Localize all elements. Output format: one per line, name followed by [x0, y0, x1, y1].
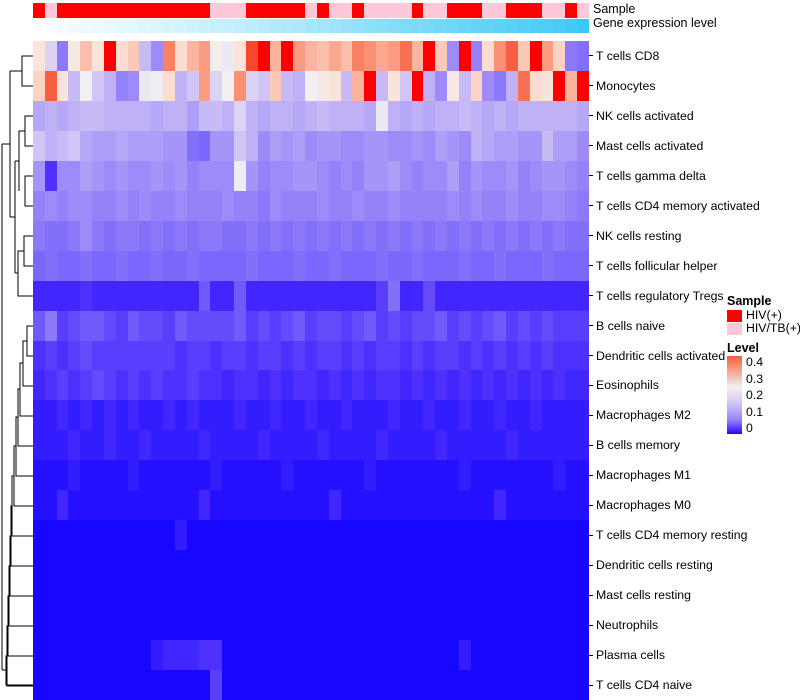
heatmap-cell — [222, 370, 234, 400]
heatmap-cell — [293, 640, 305, 670]
heatmap-cell — [234, 191, 246, 221]
gene-expression-annotation-cell — [471, 19, 483, 33]
sample-annotation-cell — [270, 3, 282, 18]
heatmap-cell — [151, 460, 163, 490]
heatmap-cell — [139, 251, 151, 281]
heatmap-cell — [128, 221, 140, 251]
heatmap-cell — [341, 341, 353, 371]
heatmap-cell — [222, 430, 234, 460]
heatmap-cell — [447, 311, 459, 341]
heatmap-cell — [139, 640, 151, 670]
heatmap-row — [33, 341, 589, 371]
heatmap-cell — [45, 400, 57, 430]
heatmap-cell — [45, 41, 57, 71]
heatmap-cell — [364, 131, 376, 161]
sample-annotation-cell — [163, 3, 175, 18]
heatmap-cell — [553, 400, 565, 430]
heatmap-cell — [270, 251, 282, 281]
heatmap-cell — [471, 341, 483, 371]
heatmap-cell — [388, 341, 400, 371]
heatmap-cell — [412, 41, 424, 71]
sample-annotation-cell — [104, 3, 116, 18]
heatmap-cell — [187, 221, 199, 251]
heatmap-cell — [553, 281, 565, 311]
row-label-text: Dendritic cells activated — [596, 349, 725, 363]
heatmap-cell — [281, 161, 293, 191]
heatmap-cell — [553, 311, 565, 341]
heatmap-cell — [506, 161, 518, 191]
gene-expression-annotation-cell — [270, 19, 282, 33]
heatmap-cell — [175, 281, 187, 311]
heatmap-cell — [329, 490, 341, 520]
heatmap-cell — [222, 161, 234, 191]
heatmap-cell — [210, 311, 222, 341]
heatmap-cell — [376, 221, 388, 251]
heatmap-cell — [116, 191, 128, 221]
heatmap-cell — [352, 370, 364, 400]
heatmap-cell — [199, 640, 211, 670]
heatmap-cell — [530, 550, 542, 580]
gene-expression-annotation-cell — [187, 19, 199, 33]
heatmap-cell — [80, 341, 92, 371]
heatmap-cell — [506, 41, 518, 71]
heatmap-cell — [471, 550, 483, 580]
heatmap-cell — [482, 281, 494, 311]
heatmap-cell — [577, 191, 589, 221]
heatmap-cell — [577, 520, 589, 550]
heatmap-cell — [530, 251, 542, 281]
gene-expression-annotation-cell — [376, 19, 388, 33]
heatmap-cell — [57, 191, 69, 221]
row-label-item: Eosinophils — [589, 371, 659, 401]
row-label-item: Mast cells activated — [589, 131, 703, 161]
row-label-text: Dendritic cells resting — [596, 558, 713, 572]
heatmap-cell — [199, 71, 211, 101]
heatmap-cell — [175, 161, 187, 191]
sample-annotation-cell — [352, 3, 364, 18]
heatmap-cell — [281, 101, 293, 131]
heatmap-cell — [45, 550, 57, 580]
heatmap-cell — [447, 460, 459, 490]
heatmap-cell — [104, 610, 116, 640]
heatmap-cell — [530, 640, 542, 670]
heatmap-cell — [435, 490, 447, 520]
heatmap-cell — [435, 610, 447, 640]
heatmap-cell — [281, 221, 293, 251]
heatmap-cell — [151, 311, 163, 341]
heatmap-cell — [128, 131, 140, 161]
heatmap-cell — [246, 191, 258, 221]
heatmap-cell — [435, 460, 447, 490]
heatmap-cell — [281, 370, 293, 400]
heatmap-cell — [577, 430, 589, 460]
heatmap-cell — [92, 281, 104, 311]
heatmap-cell — [341, 251, 353, 281]
heatmap-cell — [518, 670, 530, 700]
heatmap-cell — [482, 311, 494, 341]
heatmap-cell — [57, 640, 69, 670]
heatmap-cell — [246, 670, 258, 700]
row-tick-mark — [589, 505, 593, 506]
heatmap-cell — [400, 430, 412, 460]
heatmap-cell — [471, 251, 483, 281]
legend-label-hivtb: HIV/TB(+) — [746, 322, 800, 335]
heatmap-cell — [565, 460, 577, 490]
heatmap-cell — [222, 400, 234, 430]
level-tick-labels: 0.40.30.20.10 — [746, 356, 796, 434]
heatmap-cell — [270, 670, 282, 700]
heatmap-cell — [104, 101, 116, 131]
gene-expression-annotation-cell — [435, 19, 447, 33]
legend-panel: Sample HIV(+) HIV/TB(+) Level 0.40.30.20… — [727, 294, 800, 434]
heatmap-cell — [151, 400, 163, 430]
heatmap-cell — [222, 670, 234, 700]
heatmap-cell — [435, 311, 447, 341]
heatmap-cell — [258, 520, 270, 550]
heatmap-cell — [104, 520, 116, 550]
heatmap-cell — [506, 460, 518, 490]
heatmap-cell — [542, 221, 554, 251]
heatmap-cell — [577, 640, 589, 670]
sample-annotation-cell — [542, 3, 554, 18]
heatmap-cell — [518, 490, 530, 520]
heatmap-cell — [494, 311, 506, 341]
heatmap-cell — [163, 550, 175, 580]
heatmap-cell — [553, 131, 565, 161]
heatmap-cell — [447, 490, 459, 520]
heatmap-cell — [293, 400, 305, 430]
heatmap-cell — [352, 71, 364, 101]
sample-annotation-cell — [482, 3, 494, 18]
heatmap-cell — [423, 251, 435, 281]
heatmap-cell — [258, 400, 270, 430]
heatmap-cell — [246, 221, 258, 251]
heatmap-cell — [553, 520, 565, 550]
heatmap-cell — [33, 610, 45, 640]
heatmap-cell — [435, 580, 447, 610]
heatmap-cell — [281, 341, 293, 371]
level-color-ramp — [727, 356, 742, 434]
heatmap-cell — [210, 520, 222, 550]
heatmap-cell — [45, 430, 57, 460]
heatmap-cell — [293, 71, 305, 101]
heatmap-cell — [459, 520, 471, 550]
gene-expression-annotation-cell — [57, 19, 69, 33]
heatmap-cell — [92, 191, 104, 221]
gene-expression-annotation-cell — [175, 19, 187, 33]
heatmap-cell — [222, 71, 234, 101]
heatmap-cell — [577, 41, 589, 71]
row-label-text: Mast cells activated — [596, 139, 703, 153]
heatmap-cell — [139, 520, 151, 550]
gene-expression-annotation-cell — [530, 19, 542, 33]
heatmap-cell — [128, 41, 140, 71]
heatmap-cell — [305, 221, 317, 251]
heatmap-cell — [482, 341, 494, 371]
heatmap-cell — [199, 101, 211, 131]
heatmap-cell — [163, 610, 175, 640]
heatmap-cell — [187, 670, 199, 700]
sample-annotation-cell — [57, 3, 69, 18]
heatmap-cell — [246, 400, 258, 430]
heatmap-cell — [92, 370, 104, 400]
heatmap-cell — [68, 460, 80, 490]
heatmap-cell — [565, 370, 577, 400]
heatmap-cell — [423, 221, 435, 251]
gene-expression-annotation-cell — [281, 19, 293, 33]
level-legend: Level 0.40.30.20.10 — [727, 341, 800, 434]
heatmap-cell — [305, 281, 317, 311]
heatmap-cell — [210, 101, 222, 131]
row-tick-mark — [589, 55, 593, 56]
heatmap-cell — [222, 41, 234, 71]
heatmap-cell — [281, 311, 293, 341]
heatmap-cell — [68, 191, 80, 221]
heatmap-cell — [222, 341, 234, 371]
gene-expression-annotation-cell — [553, 19, 565, 33]
heatmap-cell — [270, 460, 282, 490]
sample-annotation-cell — [33, 3, 45, 18]
heatmap-cell — [116, 490, 128, 520]
heatmap-cell — [376, 161, 388, 191]
heatmap-cell — [506, 191, 518, 221]
heatmap-cell — [518, 101, 530, 131]
row-label-item: NK cells resting — [589, 221, 681, 251]
heatmap-cell — [317, 370, 329, 400]
heatmap-cell — [151, 221, 163, 251]
heatmap-cell — [400, 41, 412, 71]
heatmap-cell — [364, 341, 376, 371]
heatmap-cell — [388, 550, 400, 580]
sample-annotation-label: Sample — [593, 3, 635, 16]
heatmap-cell — [128, 670, 140, 700]
heatmap-cell — [281, 550, 293, 580]
heatmap-cell — [68, 221, 80, 251]
heatmap-cell — [530, 490, 542, 520]
heatmap-cell — [494, 71, 506, 101]
heatmap-cell — [447, 191, 459, 221]
heatmap-cell — [364, 400, 376, 430]
heatmap-cell — [400, 311, 412, 341]
heatmap-cell — [68, 640, 80, 670]
heatmap-cell — [128, 430, 140, 460]
heatmap-cell — [388, 131, 400, 161]
heatmap-cell — [151, 610, 163, 640]
heatmap-cell — [542, 460, 554, 490]
heatmap-cell — [577, 161, 589, 191]
heatmap-cell — [281, 251, 293, 281]
heatmap-cell — [329, 400, 341, 430]
row-tick-mark — [589, 265, 593, 266]
gene-expression-annotation-cell — [506, 19, 518, 33]
heatmap-cell — [482, 550, 494, 580]
heatmap-row — [33, 640, 589, 670]
heatmap-cell — [518, 550, 530, 580]
heatmap-cell — [459, 281, 471, 311]
heatmap-cell — [33, 221, 45, 251]
heatmap-cell — [317, 610, 329, 640]
heatmap-cell — [435, 430, 447, 460]
heatmap-cell — [494, 341, 506, 371]
heatmap-cell — [57, 311, 69, 341]
heatmap-cell — [187, 341, 199, 371]
heatmap-cell — [530, 670, 542, 700]
heatmap-cell — [258, 131, 270, 161]
heatmap-cell — [128, 640, 140, 670]
heatmap-cell — [565, 251, 577, 281]
heatmap-cell — [92, 670, 104, 700]
heatmap-cell — [435, 520, 447, 550]
heatmap-cell — [506, 670, 518, 700]
heatmap-cell — [293, 490, 305, 520]
heatmap-cell — [530, 430, 542, 460]
heatmap-cell — [104, 550, 116, 580]
heatmap-cell — [104, 221, 116, 251]
gene-expression-annotation-cell — [92, 19, 104, 33]
heatmap-cell — [447, 640, 459, 670]
heatmap-cell — [494, 101, 506, 131]
heatmap-row — [33, 370, 589, 400]
row-label-item: T cells CD4 memory activated — [589, 191, 760, 221]
heatmap-cell — [329, 251, 341, 281]
heatmap-cell — [175, 580, 187, 610]
heatmap-cell — [57, 41, 69, 71]
heatmap-cell — [423, 311, 435, 341]
heatmap-cell — [270, 640, 282, 670]
heatmap-cell — [494, 490, 506, 520]
gene-expression-annotation-cell — [234, 19, 246, 33]
heatmap-cell — [530, 101, 542, 131]
gene-expression-annotation-bar — [33, 19, 589, 33]
heatmap-cell — [482, 251, 494, 281]
heatmap-cell — [293, 251, 305, 281]
heatmap-cell — [494, 550, 506, 580]
heatmap-cell — [151, 101, 163, 131]
gene-expression-annotation-cell — [293, 19, 305, 33]
heatmap-cell — [45, 610, 57, 640]
heatmap-cell — [423, 460, 435, 490]
heatmap-cell — [33, 41, 45, 71]
heatmap-cell — [199, 191, 211, 221]
heatmap-cell — [163, 311, 175, 341]
heatmap-cell — [163, 131, 175, 161]
heatmap-cell — [305, 400, 317, 430]
heatmap-cell — [187, 71, 199, 101]
heatmap-cell — [199, 341, 211, 371]
row-label-text: T cells CD8 — [596, 49, 659, 63]
heatmap-cell — [175, 430, 187, 460]
heatmap-cell — [175, 550, 187, 580]
heatmap-cell — [494, 281, 506, 311]
heatmap-cell — [293, 191, 305, 221]
heatmap-cell — [542, 670, 554, 700]
heatmap-cell — [530, 341, 542, 371]
heatmap-cell — [128, 400, 140, 430]
heatmap-cell — [163, 580, 175, 610]
heatmap-cell — [364, 221, 376, 251]
heatmap-cell — [139, 281, 151, 311]
heatmap-cell — [506, 640, 518, 670]
heatmap-cell — [92, 550, 104, 580]
row-label-text: Neutrophils — [596, 618, 658, 632]
heatmap-cell — [423, 580, 435, 610]
row-tick-mark — [589, 205, 593, 206]
heatmap-cell — [518, 460, 530, 490]
row-label-item: T cells CD4 naive — [589, 670, 692, 700]
heatmap-cell — [388, 101, 400, 131]
heatmap-cell — [151, 41, 163, 71]
heatmap-cell — [482, 670, 494, 700]
heatmap-cell — [518, 41, 530, 71]
heatmap-cell — [447, 281, 459, 311]
heatmap-cell — [364, 71, 376, 101]
heatmap-cell — [199, 460, 211, 490]
heatmap-cell — [187, 460, 199, 490]
row-label-item: Macrophages M0 — [589, 490, 691, 520]
heatmap-cell — [364, 550, 376, 580]
heatmap-cell — [139, 311, 151, 341]
row-tick-mark — [589, 565, 593, 566]
heatmap-cell — [246, 71, 258, 101]
heatmap-cell — [116, 41, 128, 71]
heatmap-row — [33, 580, 589, 610]
row-label-text: T cells regulatory Tregs — [596, 289, 724, 303]
heatmap-cell — [352, 101, 364, 131]
heatmap-cell — [33, 640, 45, 670]
heatmap-cell — [364, 490, 376, 520]
row-label-item: T cells gamma delta — [589, 161, 706, 191]
heatmap-cell — [577, 460, 589, 490]
row-label-text: Macrophages M0 — [596, 498, 691, 512]
sample-annotation-cell — [494, 3, 506, 18]
heatmap-cell — [518, 370, 530, 400]
heatmap-cell — [293, 131, 305, 161]
heatmap-cell — [423, 400, 435, 430]
heatmap-cell — [565, 490, 577, 520]
heatmap-cell — [128, 520, 140, 550]
heatmap-cell — [68, 400, 80, 430]
heatmap-cell — [506, 341, 518, 371]
heatmap-cell — [210, 370, 222, 400]
heatmap-cell — [45, 460, 57, 490]
heatmap-cell — [281, 131, 293, 161]
heatmap-cell — [92, 490, 104, 520]
heatmap-cell — [423, 550, 435, 580]
heatmap-cell — [234, 580, 246, 610]
heatmap-cell — [553, 550, 565, 580]
heatmap-cell — [57, 281, 69, 311]
heatmap-cell — [364, 520, 376, 550]
heatmap-cell — [139, 610, 151, 640]
heatmap-cell — [317, 221, 329, 251]
row-label-item: B cells naive — [589, 311, 665, 341]
heatmap-cell — [104, 161, 116, 191]
heatmap-cell — [33, 520, 45, 550]
heatmap-cell — [57, 610, 69, 640]
heatmap-cell — [400, 281, 412, 311]
heatmap-cell — [139, 161, 151, 191]
heatmap-cell — [542, 370, 554, 400]
heatmap-cell — [352, 610, 364, 640]
sample-annotation-cell — [305, 3, 317, 18]
heatmap-cell — [104, 370, 116, 400]
heatmap-cell — [388, 520, 400, 550]
heatmap-cell — [305, 251, 317, 281]
heatmap-cell — [542, 580, 554, 610]
heatmap-cell — [45, 281, 57, 311]
heatmap-cell — [317, 640, 329, 670]
heatmap-cell — [482, 520, 494, 550]
